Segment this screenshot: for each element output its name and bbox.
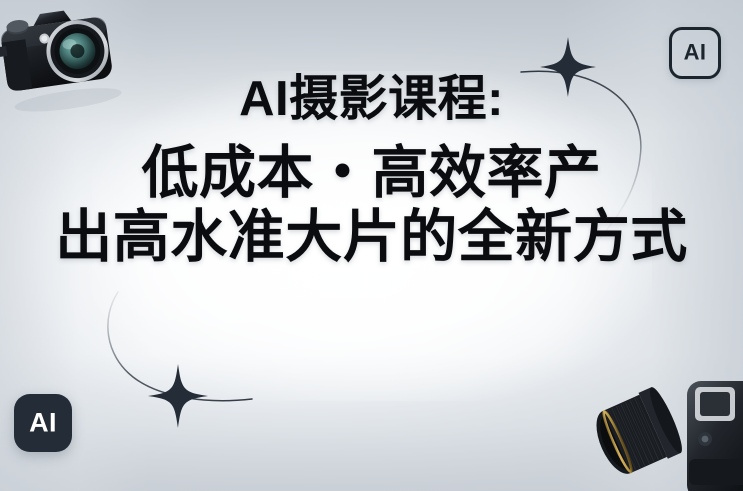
headline-block: AI摄影课程: 低成本・高效率产 出高水准大片的全新方式 xyxy=(0,74,743,267)
ai-badge-bottom-left[interactable]: AI xyxy=(14,394,72,452)
ai-badge-top-right-label: AI xyxy=(684,42,707,64)
poster-canvas: AI摄影课程: 低成本・高效率产 出高水准大片的全新方式 AI AI xyxy=(0,0,743,491)
ai-badge-bottom-left-label: AI xyxy=(29,409,57,436)
headline-line-3: 出高水准大片的全新方式 xyxy=(0,208,743,267)
camera-bottom-right-icon xyxy=(583,343,743,491)
ai-badge-top-right[interactable]: AI xyxy=(669,27,721,79)
headline-line-2: 低成本・高效率产 xyxy=(0,144,743,203)
headline-line-1: AI摄影课程: xyxy=(0,74,743,124)
